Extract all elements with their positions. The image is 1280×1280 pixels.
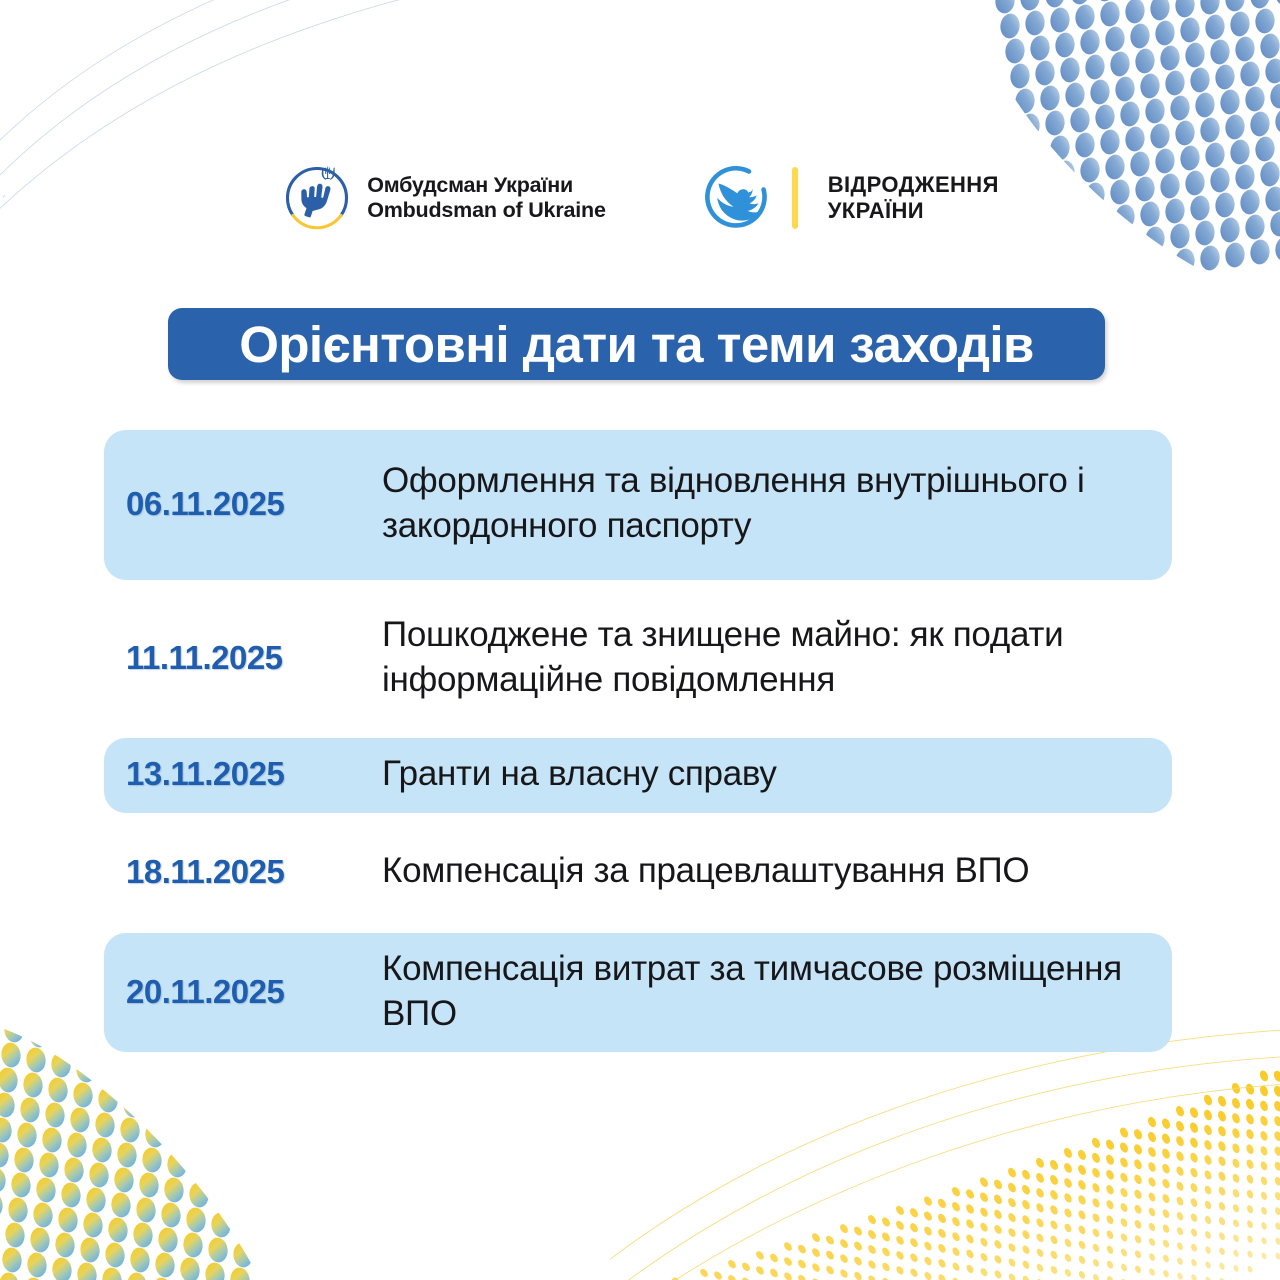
schedule-row: 13.11.2025 Гранти на власну справу [104, 738, 1172, 813]
vidrodzhennya-logo-text: ВІДРОДЖЕННЯ УКРАЇНИ [828, 172, 999, 224]
logo-row: Омбудсман України Ombudsman of Ukraine [0, 162, 1280, 234]
schedule-row: 20.11.2025 Компенсація витрат за тимчасо… [104, 933, 1172, 1053]
schedule-row-topic: Оформлення та відновлення внутрішнього і… [382, 459, 1172, 549]
schedule-row: 18.11.2025 Компенсація за працевлаштуван… [104, 813, 1172, 933]
schedule-list: 06.11.2025 Оформлення та відновлення вну… [104, 430, 1172, 1052]
hand-dove-trident-circle-icon [281, 162, 353, 234]
vidrodzhennya-line-2: УКРАЇНИ [828, 198, 999, 224]
vidrodzhennya-line-1: ВІДРОДЖЕННЯ [828, 172, 999, 198]
page-title-banner: Орієнтовні дати та теми заходів [168, 308, 1105, 380]
schedule-row-date: 11.11.2025 [104, 639, 382, 677]
logo-vidrodzhennya-ukrainy: ВІДРОДЖЕННЯ УКРАЇНИ [702, 163, 999, 233]
bottom-right-dot-wave-decoration [610, 1020, 1280, 1280]
logo-ombudsman-of-ukraine: Омбудсман України Ombudsman of Ukraine [281, 162, 606, 234]
schedule-row-topic: Компенсація за працевлаштування ВПО [382, 849, 1172, 894]
ombudsman-name-en: Ombudsman of Ukraine [367, 198, 606, 223]
poster-canvas: Омбудсман України Ombudsman of Ukraine [0, 0, 1280, 1280]
schedule-row-date: 06.11.2025 [104, 485, 382, 523]
schedule-row-topic: Компенсація витрат за тимчасове розміщен… [382, 947, 1172, 1037]
ombudsman-logo-text: Омбудсман України Ombudsman of Ukraine [367, 173, 606, 224]
page-title: Орієнтовні дати та теми заходів [239, 315, 1034, 374]
schedule-row-topic: Пошкоджене та знищене майно: як подати і… [382, 613, 1172, 703]
schedule-row: 11.11.2025 Пошкоджене та знищене майно: … [104, 580, 1172, 738]
schedule-row: 06.11.2025 Оформлення та відновлення вну… [104, 430, 1172, 580]
schedule-row-topic: Гранти на власну справу [382, 752, 1172, 797]
logo-divider [792, 167, 798, 229]
schedule-row-date: 13.11.2025 [104, 755, 382, 793]
schedule-row-date: 20.11.2025 [104, 973, 382, 1011]
ombudsman-name-uk: Омбудсман України [367, 173, 606, 198]
top-right-ellipse-grid-decoration [960, 0, 1280, 300]
schedule-row-date: 18.11.2025 [104, 853, 382, 891]
phoenix-bird-circle-icon [702, 163, 772, 233]
